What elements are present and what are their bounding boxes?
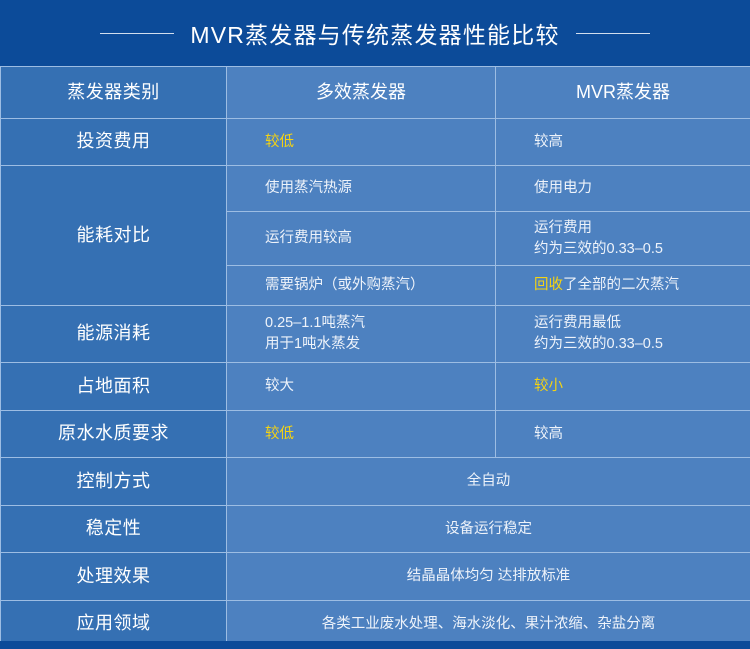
cell-text: 较低 (265, 134, 294, 150)
cell-investment-mvr: 较高 (496, 119, 750, 166)
cell-text-highlight: 回收 (534, 277, 563, 293)
row-label-stability: 稳定性 (1, 506, 227, 553)
row-label-water-quality: 原水水质要求 (1, 411, 227, 458)
cell-text-rest: 了全部的二次蒸汽 (563, 277, 679, 293)
cell-footprint-multi-effect: 较大 (227, 363, 496, 411)
cell-text-line1: 运行费用最低 (534, 313, 740, 334)
cell-stability-value: 设备运行稳定 (227, 506, 750, 553)
row-label-control-mode: 控制方式 (1, 458, 227, 506)
table-row: 能耗对比 使用蒸汽热源 使用电力 (1, 166, 750, 212)
header-category: 蒸发器类别 (1, 67, 227, 119)
cell-energy-b-multi-effect: 运行费用较高 (227, 212, 496, 266)
cell-energy-usage-multi-effect: 0.25–1.1吨蒸汽 用于1吨水蒸发 (227, 306, 496, 363)
row-label-energy-usage: 能源消耗 (1, 306, 227, 363)
table-row: 处理效果 结晶晶体均匀 达排放标准 (1, 553, 750, 601)
cell-energy-a-multi-effect: 使用蒸汽热源 (227, 166, 496, 212)
cell-energy-b-mvr: 运行费用 约为三效的0.33–0.5 (496, 212, 750, 266)
comparison-table: 蒸发器类别 多效蒸发器 MVR蒸发器 投资费用 较低 较高 能耗对比 使用蒸汽热… (0, 66, 750, 648)
table-row: 稳定性 设备运行稳定 (1, 506, 750, 553)
cell-control-mode-value: 全自动 (227, 458, 750, 506)
table-row: 能源消耗 0.25–1.1吨蒸汽 用于1吨水蒸发 运行费用最低 约为三效的0.3… (1, 306, 750, 363)
cell-treatment-effect-value: 结晶晶体均匀 达排放标准 (227, 553, 750, 601)
cell-energy-a-mvr: 使用电力 (496, 166, 750, 212)
cell-energy-c-multi-effect: 需要锅炉（或外购蒸汽） (227, 266, 496, 306)
header-mvr: MVR蒸发器 (496, 67, 750, 119)
cell-text-line2: 约为三效的0.33–0.5 (534, 334, 740, 355)
row-label-treatment-effect: 处理效果 (1, 553, 227, 601)
cell-text: 较低 (265, 426, 294, 442)
table-row: 控制方式 全自动 (1, 458, 750, 506)
title-rule-right-icon (576, 33, 650, 34)
cell-water-quality-mvr: 较高 (496, 411, 750, 458)
bottom-strip (0, 641, 750, 649)
cell-text-line1: 运行费用 (534, 218, 740, 239)
table-row: 原水水质要求 较低 较高 (1, 411, 750, 458)
table-row: 投资费用 较低 较高 (1, 119, 750, 166)
table-row: 占地面积 较大 较小 (1, 363, 750, 411)
title-banner: MVR蒸发器与传统蒸发器性能比较 (0, 0, 750, 66)
cell-water-quality-multi-effect: 较低 (227, 411, 496, 458)
cell-investment-multi-effect: 较低 (227, 119, 496, 166)
row-label-energy-comparison: 能耗对比 (1, 166, 227, 306)
cell-text-line2: 约为三效的0.33–0.5 (534, 239, 740, 260)
cell-text-line2: 用于1吨水蒸发 (265, 334, 485, 355)
header-multi-effect: 多效蒸发器 (227, 67, 496, 119)
cell-energy-c-mvr: 回收了全部的二次蒸汽 (496, 266, 750, 306)
comparison-infographic: MVR蒸发器与传统蒸发器性能比较 蒸发器类别 多效蒸发器 MVR蒸发器 投资费用… (0, 0, 750, 649)
cell-energy-usage-mvr: 运行费用最低 约为三效的0.33–0.5 (496, 306, 750, 363)
cell-footprint-mvr: 较小 (496, 363, 750, 411)
page-title: MVR蒸发器与传统蒸发器性能比较 (190, 16, 559, 50)
cell-text: 较小 (534, 378, 563, 394)
row-label-footprint: 占地面积 (1, 363, 227, 411)
row-label-investment: 投资费用 (1, 119, 227, 166)
cell-text-line1: 0.25–1.1吨蒸汽 (265, 313, 485, 334)
title-rule-left-icon (100, 33, 174, 34)
table-header-row: 蒸发器类别 多效蒸发器 MVR蒸发器 (1, 67, 750, 119)
